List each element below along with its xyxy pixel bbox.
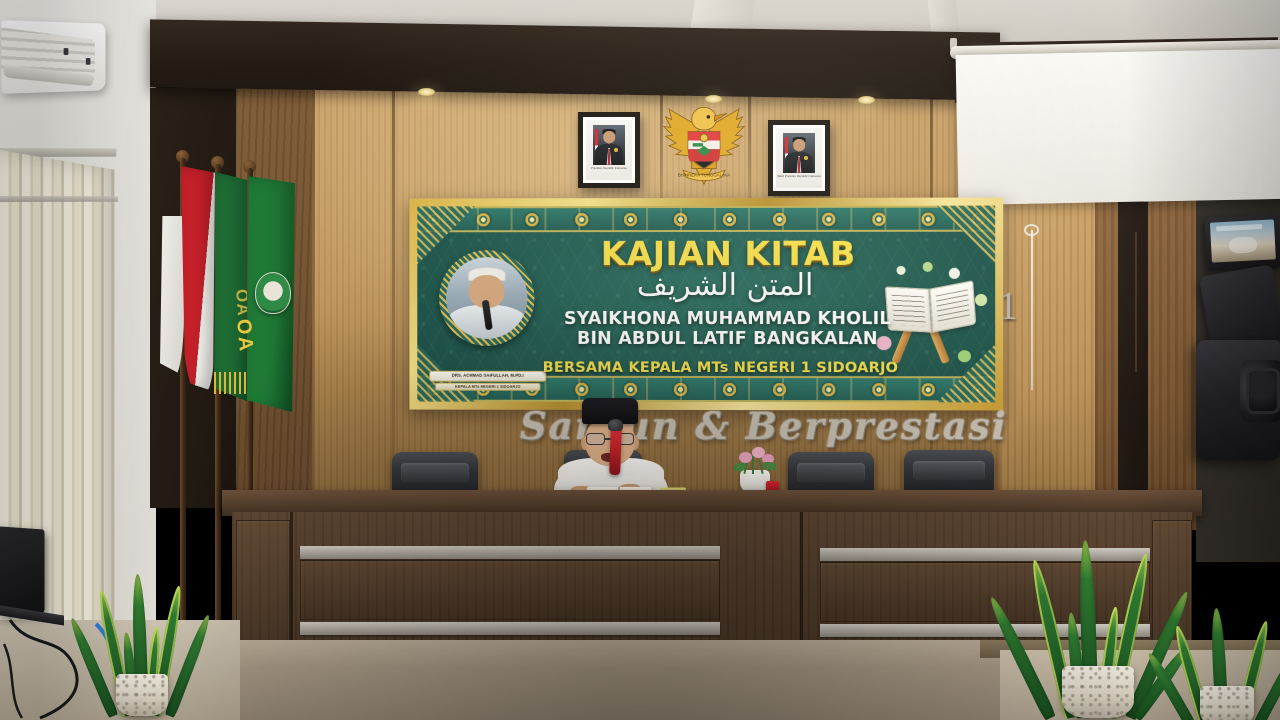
- camera-top-handle: [1199, 264, 1280, 352]
- snake-plant-left: [86, 556, 198, 716]
- screen-pull-cord[interactable]: [1031, 230, 1033, 390]
- plant-pot: [1200, 686, 1254, 720]
- president-caption: Presiden Republik Indonesia: [591, 167, 627, 171]
- plant-pot: [1062, 666, 1134, 718]
- wood-seam: [312, 88, 315, 508]
- portrait-inner: Presiden Republik Indonesia: [586, 120, 632, 180]
- camera-lcd-screen[interactable]: [1210, 219, 1276, 262]
- flag-emblem-icon: [255, 272, 291, 314]
- ac-sensor: [86, 58, 91, 65]
- desk-trim-strip: [300, 622, 720, 635]
- wall-cord-secondary: [1135, 232, 1137, 372]
- meeting-hall-photo: 1 Presiden Republik Indonesia: [0, 0, 1280, 720]
- garuda-motto: BHINNEKA TUNGGAL IKA: [678, 172, 730, 177]
- blind-rail-secondary: [0, 196, 118, 202]
- face: [793, 139, 805, 151]
- downlight-icon: [858, 96, 875, 104]
- vice-president-photo: [783, 133, 815, 173]
- flower-leaf: [764, 462, 776, 470]
- president-photo: [593, 125, 625, 165]
- desk-trim-strip: [300, 546, 720, 559]
- lapel-pin: [614, 148, 618, 152]
- camera-lens-ring: [1246, 368, 1280, 414]
- flag-white-section: [160, 216, 184, 376]
- wood-seam: [748, 88, 751, 206]
- air-conditioner-icon: [1, 20, 105, 94]
- lapel-pin: [804, 156, 808, 160]
- ceiling-valance: [150, 19, 1000, 100]
- vice-president-caption: Wakil Presiden Republik Indonesia: [777, 175, 820, 179]
- desk-center-panel: [300, 560, 720, 620]
- event-banner: DRS. ACHMAD SAIFULLAH, M.PD.I KEPALA MTs…: [409, 198, 1003, 411]
- vice-president-portrait-frame: Wakil Presiden Republik Indonesia: [768, 120, 830, 196]
- snake-plant-right: [1018, 518, 1178, 718]
- president-portrait-frame: Presiden Republik Indonesia: [578, 112, 640, 188]
- projection-screen[interactable]: [956, 49, 1280, 205]
- flower-stem: [752, 456, 754, 474]
- wood-seam: [392, 88, 395, 508]
- garuda-pancasila-emblem: BHINNEKA TUNGGAL IKA: [660, 102, 748, 186]
- face: [603, 131, 615, 143]
- bendera-merah-putih: [181, 166, 215, 391]
- portrait-inner: Wakil Presiden Republik Indonesia: [776, 128, 822, 188]
- plant-pot: [116, 674, 168, 716]
- snake-plant-far-right: [1172, 596, 1280, 720]
- camera-lcd-housing: [1205, 214, 1280, 272]
- downlight-icon: [418, 88, 435, 96]
- ac-indicator: [64, 48, 69, 55]
- flower-bloom: [739, 452, 752, 463]
- handheld-microphone: [609, 425, 622, 475]
- lcd-overlay-bar: [1216, 224, 1262, 231]
- chair: [904, 450, 994, 494]
- microphone-head: [608, 419, 623, 431]
- lcd-preview-subject: [1229, 236, 1258, 253]
- flag-text-right: OA: [231, 318, 257, 354]
- banner-gold-border: [409, 198, 1003, 411]
- flower-leaf: [734, 463, 746, 471]
- lens-left: [586, 433, 605, 445]
